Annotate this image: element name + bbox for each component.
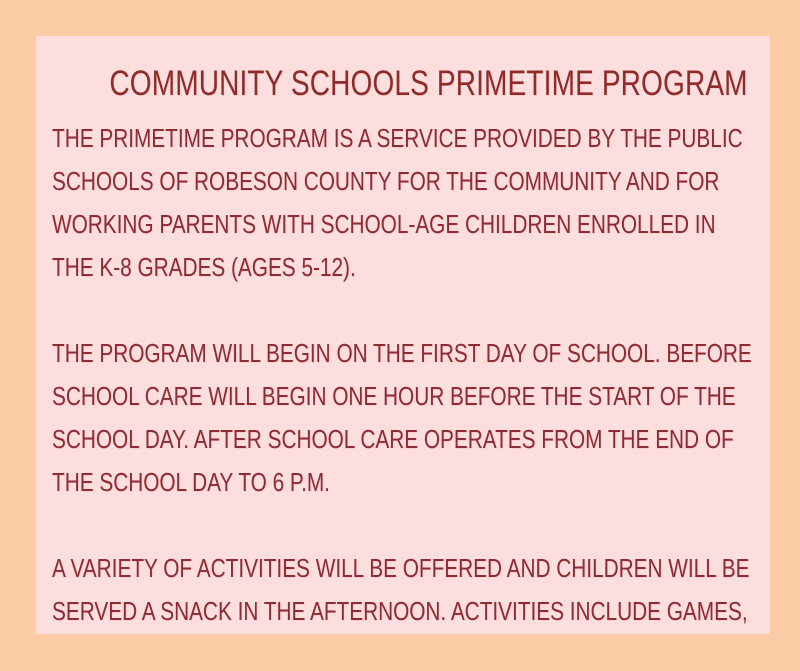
paragraph-program-description: THE PRIMETIME PROGRAM IS A SERVICE PROVI… — [52, 118, 753, 290]
page-title: COMMUNITY SCHOOLS PRIMETIME PROGRAM — [109, 63, 696, 105]
paragraph-program-hours: THE PROGRAM WILL BEGIN ON THE FIRST DAY … — [52, 333, 753, 505]
poster-body: THE PRIMETIME PROGRAM IS A SERVICE PROVI… — [52, 118, 752, 634]
poster-flyer: COMMUNITY SCHOOLS PRIMETIME PROGRAM THE … — [0, 0, 800, 671]
poster-inner-panel: COMMUNITY SCHOOLS PRIMETIME PROGRAM THE … — [36, 36, 770, 634]
paragraph-activities: A VARIETY OF ACTIVITIES WILL BE OFFERED … — [52, 548, 753, 634]
